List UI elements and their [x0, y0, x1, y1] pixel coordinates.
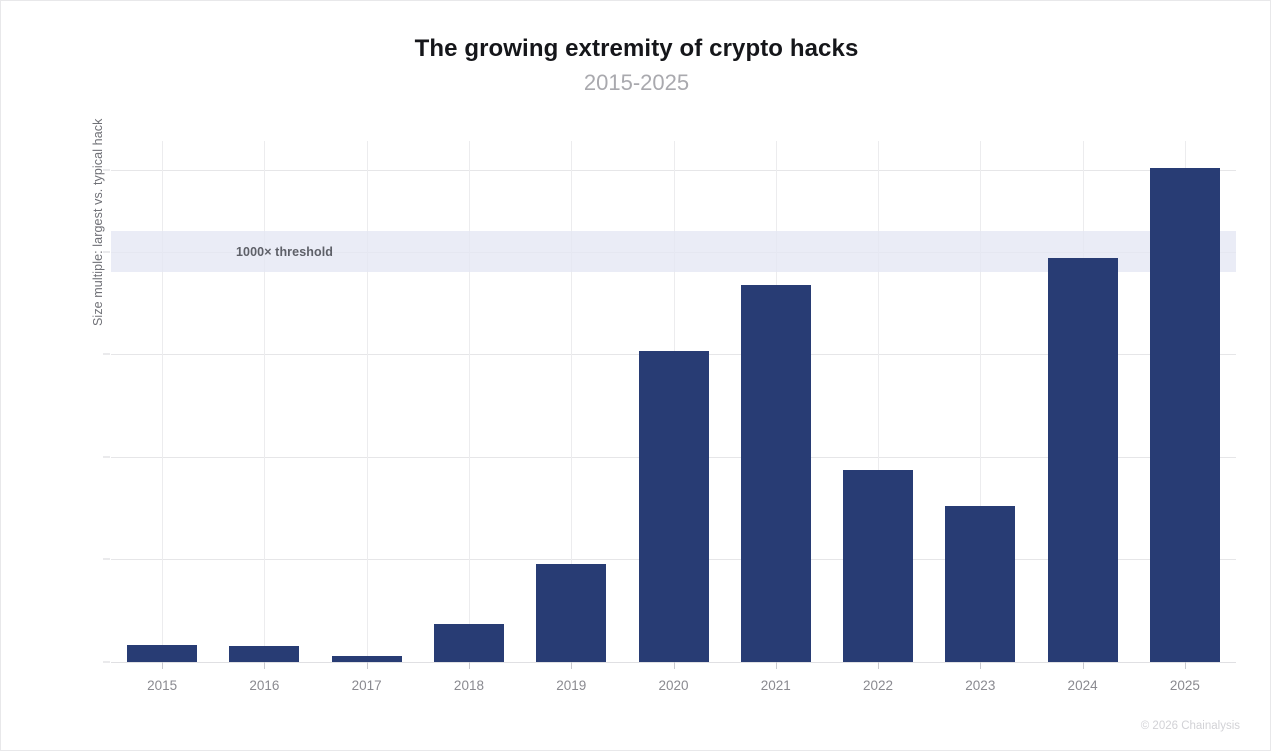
bar-group-2023: 2023 — [945, 141, 1015, 662]
x-tick-mark-2018 — [469, 662, 470, 669]
bar-2016[interactable] — [229, 646, 299, 662]
bar-series: 2015201620172018201920202021202220232024… — [111, 141, 1236, 662]
copyright-credit: © 2026 Chainalysis — [1141, 720, 1240, 732]
bar-group-2017: 2017 — [332, 141, 402, 662]
bar-group-2018: 2018 — [434, 141, 504, 662]
x-tick-mark-2024 — [1083, 662, 1084, 669]
x-tick-label-2017: 2017 — [352, 678, 382, 693]
x-tick-mark-2015 — [162, 662, 163, 669]
bar-2015[interactable] — [127, 645, 197, 662]
y-tick-mark-500 — [103, 456, 110, 457]
y-tick-mark-750 — [103, 354, 110, 355]
x-tick-mark-2019 — [571, 662, 572, 669]
bar-group-2025: 2025 — [1150, 141, 1220, 662]
bar-group-2022: 2022 — [843, 141, 913, 662]
x-tick-label-2015: 2015 — [147, 678, 177, 693]
bar-2024[interactable] — [1048, 258, 1118, 662]
x-tick-label-2022: 2022 — [863, 678, 893, 693]
x-tick-mark-2020 — [674, 662, 675, 669]
bar-2020[interactable] — [639, 351, 709, 662]
page-title: The growing extremity of crypto hacks — [1, 35, 1271, 63]
bar-group-2015: 2015 — [127, 141, 197, 662]
bar-2025[interactable] — [1150, 168, 1220, 662]
x-tick-label-2020: 2020 — [658, 678, 688, 693]
bar-2021[interactable] — [741, 285, 811, 662]
x-tick-mark-2016 — [264, 662, 265, 669]
x-tick-mark-2021 — [776, 662, 777, 669]
bar-2023[interactable] — [945, 506, 1015, 662]
bar-group-2016: 2016 — [229, 141, 299, 662]
title-block: The growing extremity of crypto hacks 20… — [1, 35, 1271, 98]
y-tick-mark-0 — [103, 662, 110, 663]
y-tick-mark-1000 — [103, 251, 110, 252]
bar-group-2020: 2020 — [639, 141, 709, 662]
bar-group-2019: 2019 — [536, 141, 606, 662]
x-tick-mark-2022 — [878, 662, 879, 669]
bar-2022[interactable] — [843, 470, 913, 662]
chart-subtitle: 2015-2025 — [1, 69, 1271, 98]
y-tick-mark-250 — [103, 559, 110, 560]
x-tick-label-2016: 2016 — [249, 678, 279, 693]
x-tick-label-2025: 2025 — [1170, 678, 1200, 693]
bar-group-2021: 2021 — [741, 141, 811, 662]
x-tick-label-2023: 2023 — [965, 678, 995, 693]
x-tick-label-2018: 2018 — [454, 678, 484, 693]
x-tick-mark-2023 — [980, 662, 981, 669]
y-tick-mark-1200 — [103, 169, 110, 170]
x-tick-label-2024: 2024 — [1068, 678, 1098, 693]
bar-2018[interactable] — [434, 624, 504, 662]
x-tick-mark-2025 — [1185, 662, 1186, 669]
x-tick-label-2021: 2021 — [761, 678, 791, 693]
x-tick-mark-2017 — [367, 662, 368, 669]
x-tick-label-2019: 2019 — [556, 678, 586, 693]
bar-2019[interactable] — [536, 564, 606, 662]
plot-area: Size multiple: largest vs. typical hack … — [111, 141, 1236, 662]
y-axis-label: Size multiple: largest vs. typical hack — [91, 119, 105, 326]
bar-group-2024: 2024 — [1048, 141, 1118, 662]
chart-canvas: The growing extremity of crypto hacks 20… — [0, 0, 1271, 751]
